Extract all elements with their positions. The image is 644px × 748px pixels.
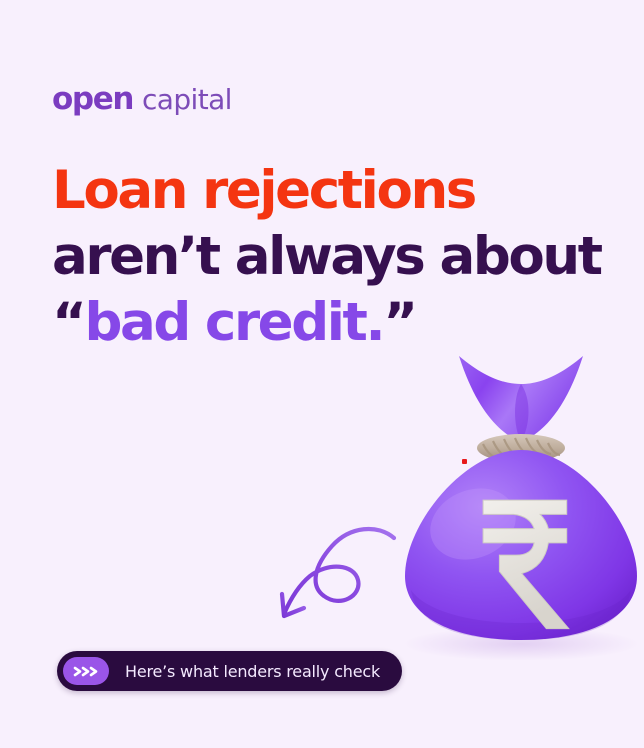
brand-logo: open capital xyxy=(52,84,232,115)
open-quote-mark: “ xyxy=(52,292,84,353)
triple-chevron-right-icon xyxy=(63,657,109,685)
logo-open-text: open xyxy=(52,84,133,115)
curved-loop-arrow xyxy=(266,522,402,627)
accent-dot xyxy=(462,459,467,464)
curved-loop-arrow-svg xyxy=(266,522,402,627)
money-bag-svg xyxy=(381,338,644,660)
logo-capital-text: capital xyxy=(142,86,232,114)
headline-block: Loan rejections aren’t always about “bad… xyxy=(52,158,632,356)
poster-canvas: open capital Loan rejections aren’t alwa… xyxy=(0,0,644,748)
cta-label: Here’s what lenders really check xyxy=(125,662,380,681)
headline-emphasis-text: bad credit. xyxy=(84,292,383,353)
triple-chevron-right-svg xyxy=(72,665,100,678)
headline-line-2: aren’t always about xyxy=(52,224,632,290)
cta-pill-button[interactable]: Here’s what lenders really check xyxy=(57,651,402,691)
headline-line-1: Loan rejections xyxy=(52,158,632,224)
money-bag-illustration xyxy=(381,338,644,660)
arrow-path xyxy=(284,529,394,614)
